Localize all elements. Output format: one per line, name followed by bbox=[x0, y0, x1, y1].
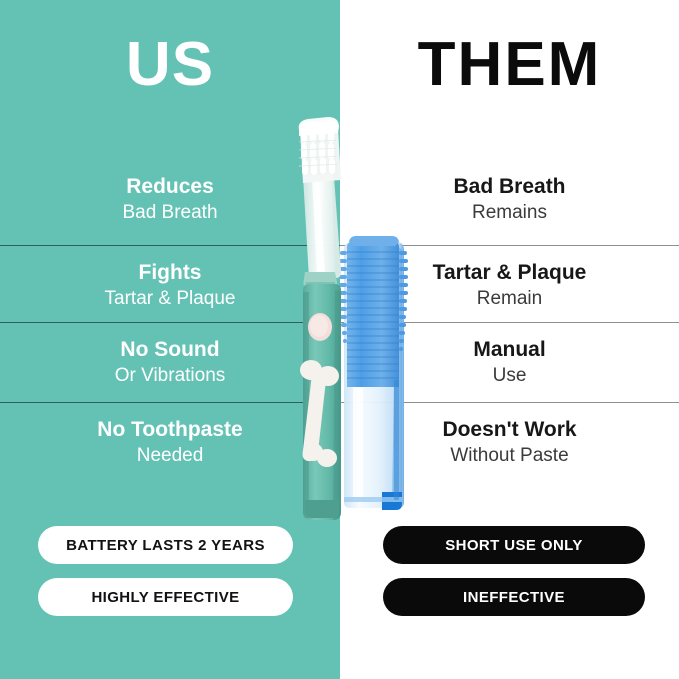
row-1-us-title: Reduces bbox=[126, 173, 214, 200]
row-1-them-title: Bad Breath bbox=[453, 173, 565, 200]
row-3-us-subtitle: Or Vibrations bbox=[115, 363, 226, 389]
badge-short-use-only[interactable]: SHORT USE ONLY bbox=[383, 526, 645, 564]
table-row: Reduces Bad Breath Bad Breath Remains bbox=[0, 160, 679, 238]
row-3-them-cell: Manual Use bbox=[340, 323, 679, 401]
heading-us: US bbox=[0, 28, 340, 102]
heading-them: THEM bbox=[340, 28, 679, 102]
row-4-us-cell: No Toothpaste Needed bbox=[0, 403, 340, 481]
row-4-them-cell: Doesn't Work Without Paste bbox=[340, 403, 679, 481]
row-1-them-cell: Bad Breath Remains bbox=[340, 160, 679, 238]
badge-battery-lasts[interactable]: BATTERY LASTS 2 YEARS bbox=[38, 526, 293, 564]
row-4-them-subtitle: Without Paste bbox=[450, 443, 568, 469]
table-row: No Sound Or Vibrations Manual Use bbox=[0, 323, 679, 401]
row-2-them-subtitle: Remain bbox=[477, 286, 542, 312]
table-row: Fights Tartar & Plaque Tartar & Plaque R… bbox=[0, 246, 679, 324]
badge-ineffective[interactable]: INEFFECTIVE bbox=[383, 578, 645, 616]
comparison-infographic: US THEM Reduces Bad Breath Bad Breath Re… bbox=[0, 0, 679, 679]
row-3-us-cell: No Sound Or Vibrations bbox=[0, 323, 340, 401]
row-3-us-title: No Sound bbox=[120, 336, 219, 363]
row-3-them-subtitle: Use bbox=[493, 363, 527, 389]
row-3-them-title: Manual bbox=[473, 336, 545, 363]
badges-them: SHORT USE ONLY INEFFECTIVE bbox=[383, 526, 645, 630]
row-2-them-title: Tartar & Plaque bbox=[433, 259, 587, 286]
row-2-us-cell: Fights Tartar & Plaque bbox=[0, 246, 340, 324]
row-4-us-title: No Toothpaste bbox=[97, 416, 242, 443]
row-2-us-subtitle: Tartar & Plaque bbox=[105, 286, 236, 312]
row-1-them-subtitle: Remains bbox=[472, 200, 547, 226]
row-2-them-cell: Tartar & Plaque Remain bbox=[340, 246, 679, 324]
comparison-rows: Reduces Bad Breath Bad Breath Remains Fi… bbox=[0, 160, 679, 490]
table-row: No Toothpaste Needed Doesn't Work Withou… bbox=[0, 403, 679, 481]
row-4-them-title: Doesn't Work bbox=[442, 416, 576, 443]
row-2-us-title: Fights bbox=[139, 259, 202, 286]
row-1-us-cell: Reduces Bad Breath bbox=[0, 160, 340, 238]
badges-us: BATTERY LASTS 2 YEARS HIGHLY EFFECTIVE bbox=[38, 526, 293, 630]
row-4-us-subtitle: Needed bbox=[137, 443, 204, 469]
row-1-us-subtitle: Bad Breath bbox=[122, 200, 217, 226]
badge-highly-effective[interactable]: HIGHLY EFFECTIVE bbox=[38, 578, 293, 616]
